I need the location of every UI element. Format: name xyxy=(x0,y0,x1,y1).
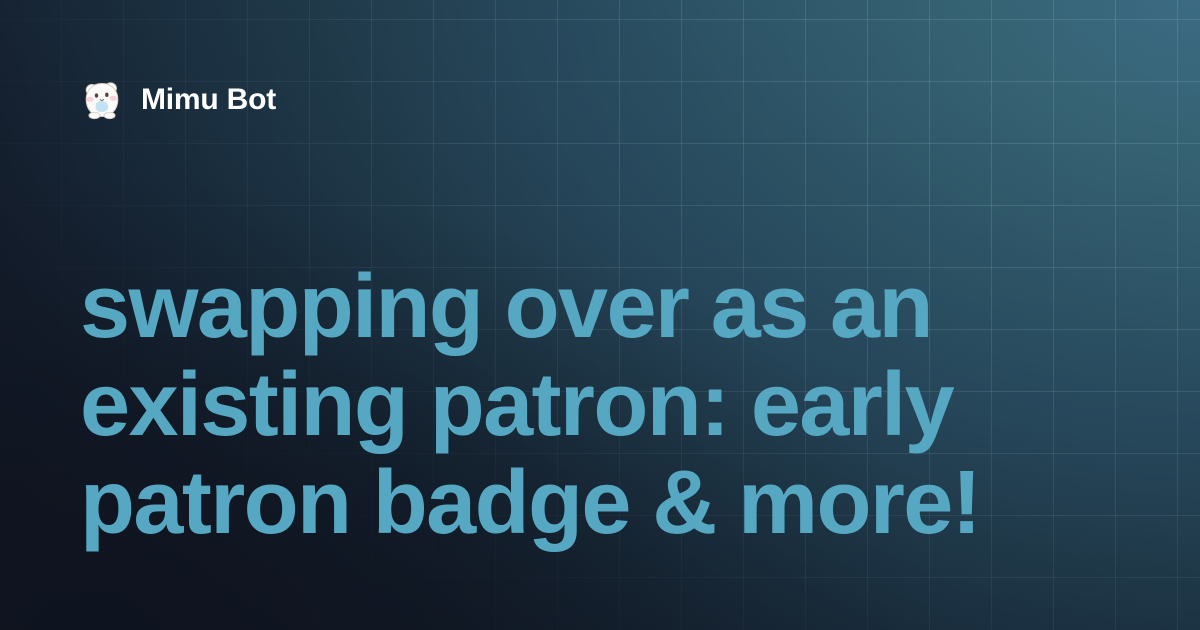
og-card: Mimu Bot swapping over as an existing pa… xyxy=(0,0,1200,630)
page-title: swapping over as an existing patron: ear… xyxy=(80,258,1080,552)
brand-name: Mimu Bot xyxy=(141,85,276,115)
brand-lockup: Mimu Bot xyxy=(80,75,276,125)
card-content: Mimu Bot swapping over as an existing pa… xyxy=(0,0,1200,630)
mimu-bear-mascot-icon xyxy=(80,78,124,122)
